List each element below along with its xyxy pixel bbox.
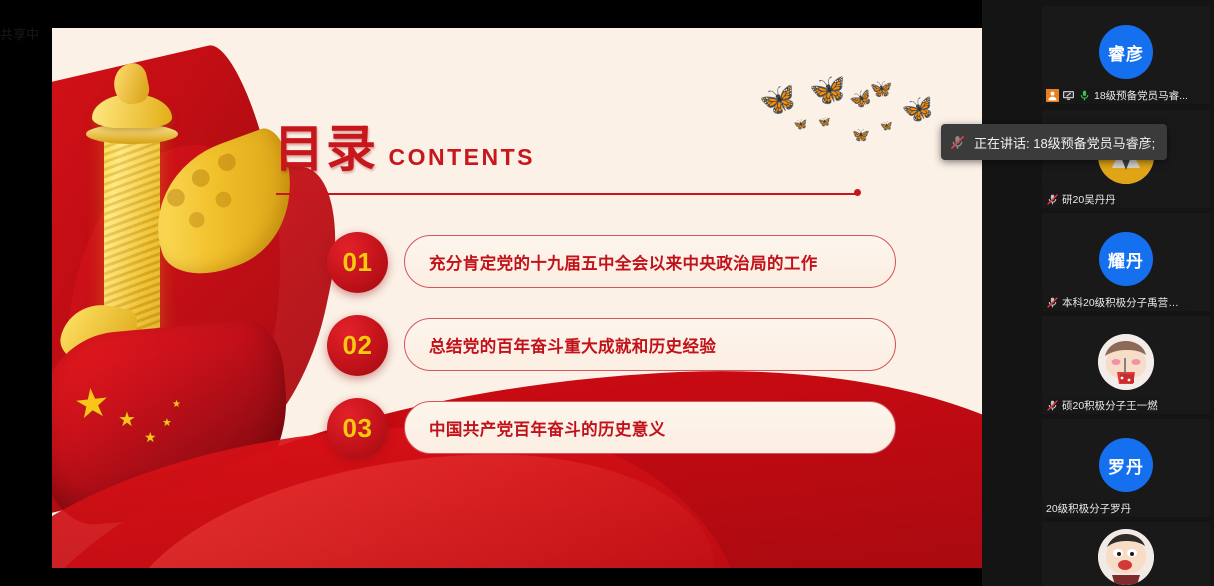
participant-info-bar: 20级积极分子罗丹 xyxy=(1042,499,1135,517)
item-number: 03 xyxy=(343,413,373,444)
mic-muted-icon xyxy=(949,134,966,151)
avatar xyxy=(1098,529,1154,585)
title-divider-dot xyxy=(854,189,861,196)
avatar: 睿彦 xyxy=(1099,25,1153,79)
participant-rail[interactable]: 睿彦 xyxy=(982,0,1214,586)
speaking-text: 正在讲话: 18级预备党员马睿彦; xyxy=(974,133,1155,152)
item-pill[interactable]: 总结党的百年奋斗重大成就和历史经验 xyxy=(404,318,896,371)
flag-star-icon: ★ xyxy=(162,418,172,429)
item-pill[interactable]: 充分肯定党的十九届五中全会以来中央政治局的工作 xyxy=(404,235,896,288)
meeting-window: 共享中 ★ ★ ★ ★ ★ 🦋 🦋 xyxy=(0,0,1214,586)
participant-name: 20级积极分子罗丹 xyxy=(1046,501,1131,516)
contents-item-01[interactable]: 01 充分肯定党的十九届五中全会以来中央政治局的工作 xyxy=(274,228,894,311)
participant-tile-6[interactable] xyxy=(1042,522,1210,586)
mic-muted-icon xyxy=(1046,399,1059,412)
avatar: 耀丹 xyxy=(1099,232,1153,286)
contents-item-03[interactable]: 03 中国共产党百年奋斗的历史意义 xyxy=(274,394,894,477)
mic-muted-icon xyxy=(1046,193,1059,206)
item-label: 总结党的百年奋斗重大成就和历史经验 xyxy=(429,333,716,357)
avatar-photo-icon xyxy=(1098,334,1154,390)
participant-icon xyxy=(1046,89,1059,102)
bird-icon: 🦋 xyxy=(900,93,937,125)
bird-icon: 🦋 xyxy=(808,74,849,109)
slide-title-cn: 目录 xyxy=(274,124,378,174)
participant-info-bar: 本科20级积极分子禹营耀丹 xyxy=(1042,293,1192,311)
participant-name: 硕20积极分子王一燃 xyxy=(1062,398,1158,413)
mic-muted-icon xyxy=(1046,296,1059,309)
bird-icon: 🦋 xyxy=(869,79,893,99)
item-number: 01 xyxy=(343,247,373,278)
participant-tile-5[interactable]: 罗丹 20级积极分子罗丹 xyxy=(1042,419,1210,517)
participant-info-bar: 18级预备党员马睿... xyxy=(1042,86,1192,104)
sharing-status-label: 共享中 xyxy=(0,24,39,43)
avatar: 罗丹 xyxy=(1099,438,1153,492)
participant-tile-4[interactable]: 硕20积极分子王一燃 xyxy=(1042,316,1210,414)
item-number-badge: 03 xyxy=(327,398,388,459)
contents-item-02[interactable]: 02 总结党的百年奋斗重大成就和历史经验 xyxy=(274,311,894,394)
mic-active-icon xyxy=(1078,89,1091,102)
bird-icon: 🦋 xyxy=(757,82,801,120)
participant-tile-3[interactable]: 耀丹 本科20级积极分子禹营耀丹 xyxy=(1042,213,1210,311)
flag-star-icon: ★ xyxy=(172,400,181,410)
avatar xyxy=(1098,334,1154,390)
participant-name: 研20吴丹丹 xyxy=(1062,192,1116,207)
item-number: 02 xyxy=(343,330,373,361)
participant-tile-1[interactable]: 睿彦 xyxy=(1042,6,1210,104)
screen-share-icon xyxy=(1062,89,1075,102)
flag-star-icon: ★ xyxy=(144,430,157,444)
flag-star-icon: ★ xyxy=(118,410,136,430)
item-label: 中国共产党百年奋斗的历史意义 xyxy=(429,416,666,440)
item-number-badge: 02 xyxy=(327,315,388,376)
participant-name: 本科20级积极分子禹营耀丹 xyxy=(1062,295,1188,310)
title-divider xyxy=(276,193,858,195)
speaking-notification: 正在讲话: 18级预备党员马睿彦; xyxy=(941,124,1167,160)
slide-title-en: CONTENTS xyxy=(388,144,535,171)
item-number-badge: 01 xyxy=(327,232,388,293)
flag-star-icon: ★ xyxy=(72,382,112,426)
participant-video xyxy=(1042,522,1210,586)
slide-title: 目录 CONTENTS xyxy=(274,124,894,174)
presentation-slide: ★ ★ ★ ★ ★ 🦋 🦋 🦋 🦋 🦋 🦋 🦋 🦋 🦋 xyxy=(52,28,982,568)
shared-screen-area: 共享中 ★ ★ ★ ★ ★ 🦋 🦋 xyxy=(0,0,982,586)
contents-list: 01 充分肯定党的十九届五中全会以来中央政治局的工作 02 总结党的百年奋斗重大… xyxy=(274,228,894,477)
item-label: 充分肯定党的十九届五中全会以来中央政治局的工作 xyxy=(429,250,818,274)
participant-info-bar: 研20吴丹丹 xyxy=(1042,190,1120,208)
item-pill[interactable]: 中国共产党百年奋斗的历史意义 xyxy=(404,401,896,454)
participant-info-bar: 硕20积极分子王一燃 xyxy=(1042,396,1162,414)
participant-name: 18级预备党员马睿... xyxy=(1094,88,1188,103)
avatar-photo-icon xyxy=(1098,529,1154,585)
